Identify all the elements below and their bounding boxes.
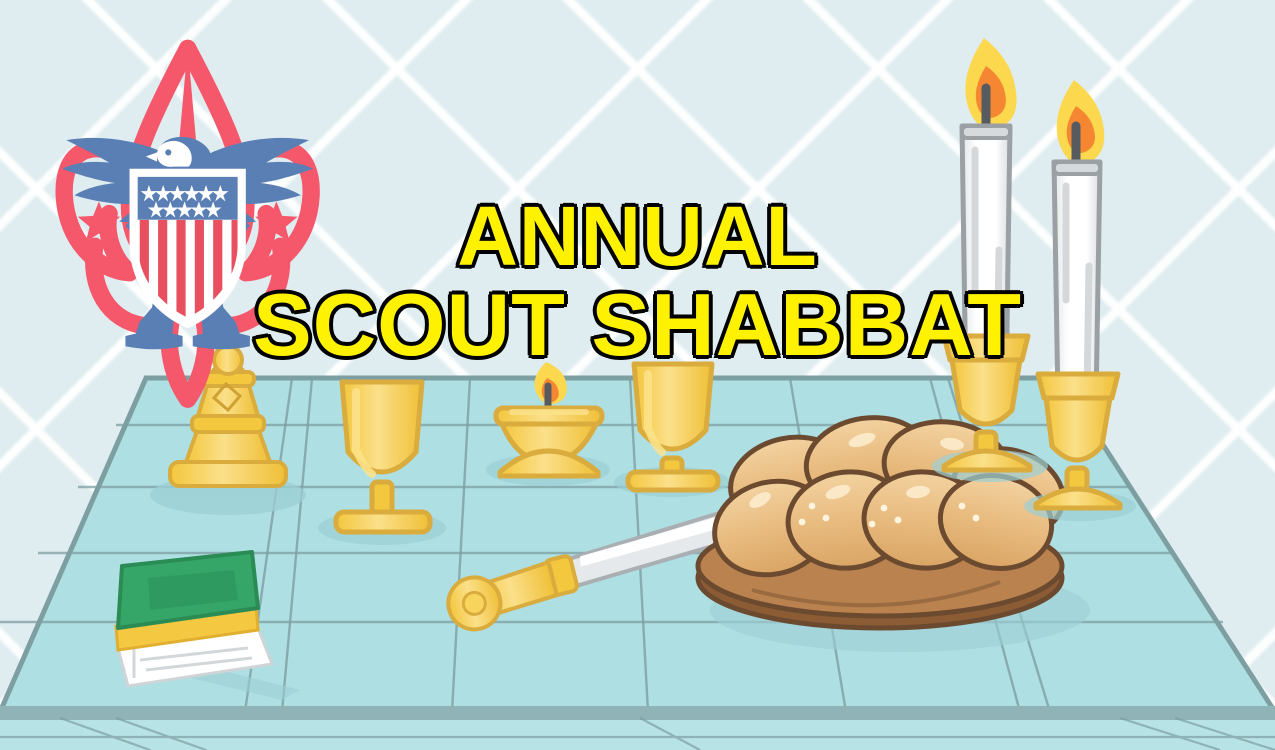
eagle-shield [134,173,242,324]
illustration-artboard [0,0,1275,750]
table-front-edge [0,706,1275,720]
candle-left-flame-icon [965,38,1016,129]
eagle-eye [165,149,171,155]
poster-canvas: ANNUAL SCOUT SHABBAT [0,0,1275,750]
bsa-logo [62,46,313,399]
